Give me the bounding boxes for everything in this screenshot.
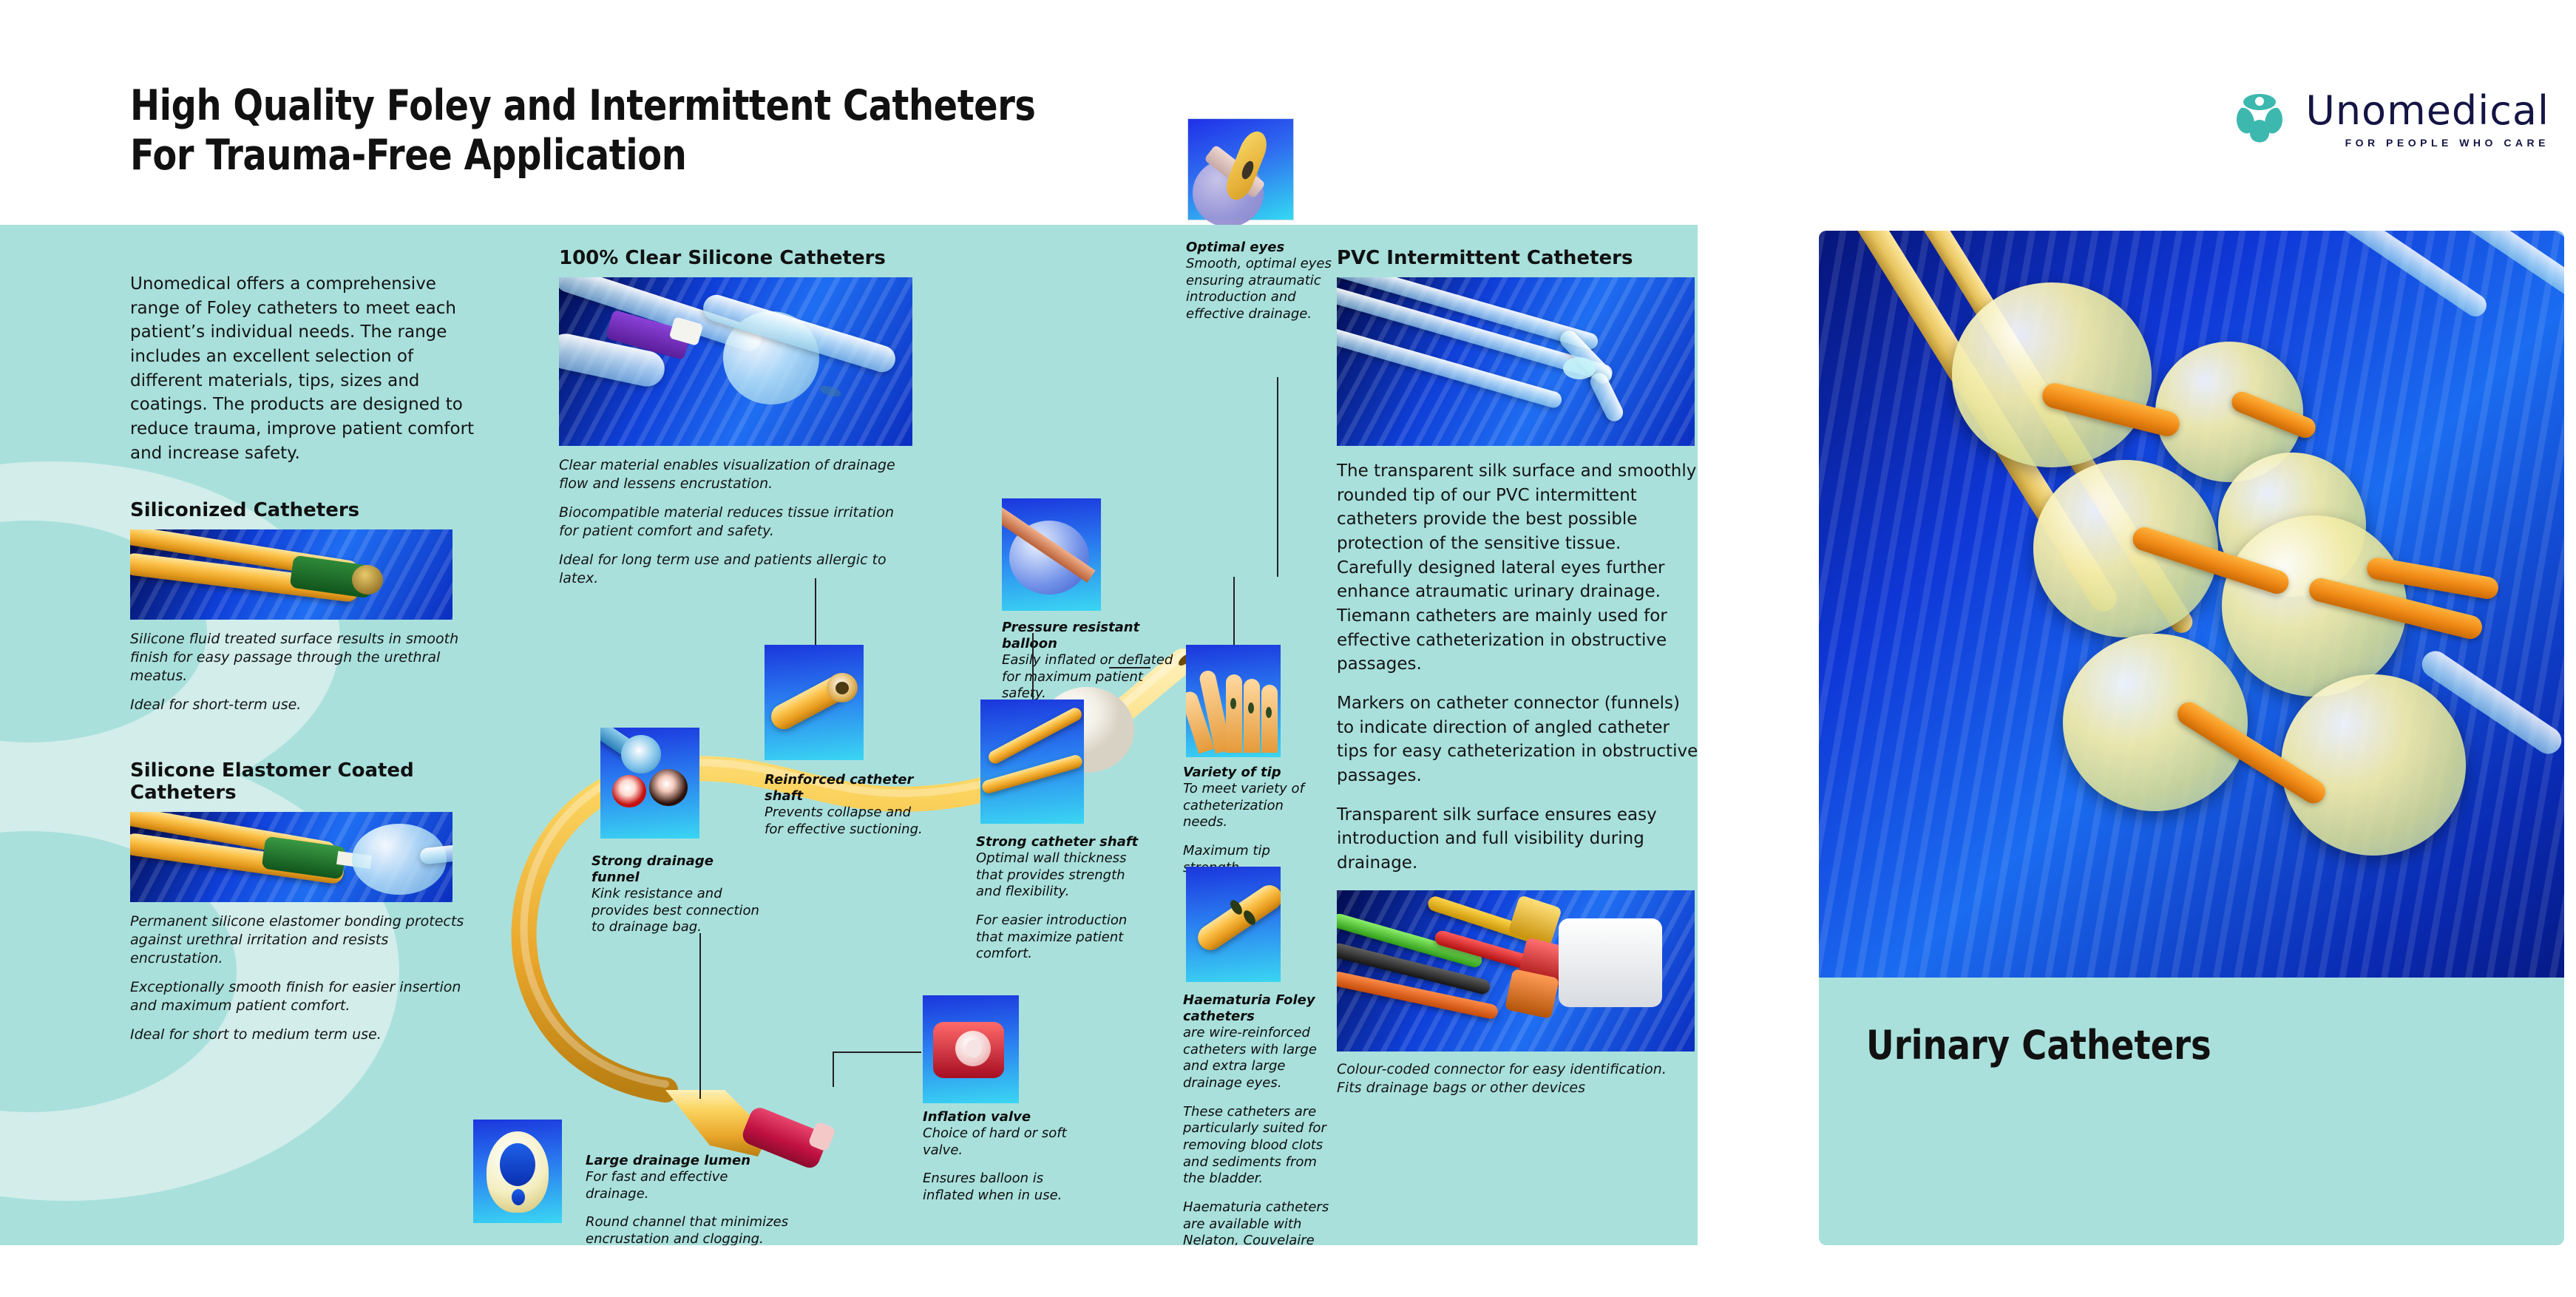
foley-balloon-catheters-hero-photo: [1819, 231, 2564, 978]
callout-title: Variety of tip: [1183, 765, 1331, 781]
callout-title: Large drainage lumen: [586, 1153, 793, 1169]
hero-panel: Urinary Catheters: [1819, 231, 2564, 1245]
connector-caption-line-1: Colour-coded connector for easy identifi…: [1337, 1060, 1698, 1079]
callout-text-3: Haematuria catheters are available with …: [1183, 1199, 1331, 1245]
caption-elastomer-1: Permanent silicone elastomer bonding pro…: [130, 912, 479, 968]
leader-line-strong-shaft: [1032, 633, 1034, 700]
callout-text: To meet variety of catheterization needs…: [1183, 781, 1331, 831]
foley-tip-balloon-thumbnail: [1187, 118, 1294, 220]
caption-elastomer-3: Ideal for short to medium term use.: [130, 1026, 479, 1044]
callout-optimal-eyes: Optimal eyes Smooth, optimal eyes ensuri…: [1186, 240, 1345, 323]
variety-of-tip-photo: [1186, 645, 1281, 757]
caption-clear-2: Biocompatible material reduces tissue ir…: [559, 504, 914, 541]
callout-strong-drainage-funnel: Strong drainage funnel Kink resistance a…: [592, 853, 762, 936]
inflation-valve-photo: [923, 995, 1019, 1103]
clear-silicone-catheter-photo: [559, 277, 912, 446]
pvc-paragraph-2: Markers on catheter connector (funnels) …: [1337, 691, 1698, 788]
reinforced-catheter-shaft-photo: [765, 645, 864, 760]
callout-variety-of-tip: Variety of tip To meet variety of cathet…: [1183, 765, 1331, 876]
unomedical-figure-icon: [2231, 90, 2288, 146]
caption-clear-3: Ideal for long term use and patients all…: [559, 551, 914, 588]
callout-title: Haematuria Foley catheters: [1183, 992, 1331, 1025]
pvc-paragraph-3: Transparent silk surface ensures easy in…: [1337, 803, 1698, 876]
leader-line-optimal-eyes: [1277, 377, 1278, 577]
colour-coded-connectors-photo: [1337, 890, 1695, 1052]
strong-drainage-funnel-photo: [600, 728, 699, 839]
callout-title: Strong drainage funnel: [592, 853, 762, 886]
pvc-intermittent-catheters-photo: [1337, 277, 1695, 446]
leader-line-reinforced-shaft: [815, 578, 816, 645]
callout-title: Pressure resistant balloon: [1002, 620, 1187, 652]
callout-text: For fast and effective drainage.: [586, 1169, 793, 1202]
callout-large-drainage-lumen: Large drainage lumen For fast and effect…: [586, 1153, 793, 1245]
silicone-elastomer-coated-catheters-photo: [130, 812, 453, 902]
caption-siliconized-2: Ideal for short-term use.: [130, 696, 479, 714]
photo-content: [1337, 277, 1695, 446]
poster-page: High Quality Foley and Intermittent Cath…: [0, 0, 2576, 1297]
callout-text: Kink resistance and provides best connec…: [592, 886, 762, 936]
photo-content: [559, 277, 912, 446]
pvc-column: PVC Intermittent Catheters The transpare…: [1337, 247, 1698, 1097]
callout-title: Reinforced catheter shaft: [765, 772, 923, 805]
leader-line-balloon-h: [1109, 667, 1150, 668]
page-header: High Quality Foley and Intermittent Cath…: [0, 0, 2576, 225]
photo-content: [130, 812, 453, 902]
logo-tagline: FOR PEOPLE WHO CARE: [2345, 137, 2549, 149]
large-drainage-lumen-photo: [473, 1120, 562, 1223]
callout-title: Strong catheter shaft: [976, 834, 1146, 850]
caption-clear-1: Clear material enables visualization of …: [559, 456, 914, 493]
photo-content: [1337, 890, 1695, 1052]
leader-line-inflation-valve-v: [833, 1052, 834, 1087]
callout-text: Prevents collapse and for effective suct…: [765, 805, 923, 838]
intro-paragraph: Unomedical offers a comprehensive range …: [130, 272, 479, 465]
caption-elastomer-2: Exceptionally smooth finish for easier i…: [130, 978, 479, 1015]
section-title-clear-silicone: 100% Clear Silicone Catheters: [559, 247, 914, 269]
callout-text: are wire-reinforced catheters with large…: [1183, 1025, 1331, 1092]
callout-pressure-resistant-balloon: Pressure resistant balloon Easily inflat…: [1002, 620, 1187, 702]
strong-catheter-shaft-photo: [980, 700, 1084, 824]
callout-strong-catheter-shaft: Strong catheter shaft Optimal wall thick…: [976, 834, 1146, 963]
pressure-resistant-balloon-photo: [1002, 498, 1101, 611]
callout-text-2: Round channel that minimizes encrustatio…: [586, 1214, 793, 1245]
hero-panel-title: Urinary Catheters: [1866, 1022, 2211, 1069]
callout-text: Smooth, optimal eyes ensuring atraumatic…: [1186, 256, 1345, 323]
middle-column: 100% Clear Silicone Catheters Clear mate…: [559, 247, 914, 588]
callout-text-2: For easier introduction that maximize pa…: [976, 912, 1146, 963]
callout-reinforced-catheter-shaft: Reinforced catheter shaft Prevents colla…: [765, 772, 923, 838]
pvc-body-text: The transparent silk surface and smoothl…: [1337, 459, 1698, 876]
siliconized-catheters-photo: [130, 529, 453, 620]
callout-text-2: These catheters are particularly suited …: [1183, 1104, 1331, 1188]
caption-siliconized-1: Silicone fluid treated surface results i…: [130, 630, 479, 685]
callout-inflation-valve: Inflation valve Choice of hard or soft v…: [923, 1109, 1071, 1205]
callout-haematuria-foley-catheters: Haematuria Foley catheters are wire-rein…: [1183, 992, 1331, 1245]
leader-line-drainage-funnel: [699, 933, 701, 1099]
callout-title: Inflation valve: [923, 1109, 1071, 1125]
logo-type: Unomedical FOR PEOPLE WHO CARE: [2305, 87, 2549, 149]
callout-text: Optimal wall thickness that provides str…: [976, 850, 1146, 901]
main-content-panel: Unomedical offers a comprehensive range …: [0, 225, 1698, 1245]
section-title-pvc: PVC Intermittent Catheters: [1337, 247, 1698, 269]
photo-content: [130, 529, 453, 620]
callout-text-2: Ensures balloon is inflated when in use.: [923, 1171, 1071, 1204]
section-title-silicone-elastomer: Silicone Elastomer Coated Catheters: [130, 759, 479, 804]
unomedical-logo: Unomedical FOR PEOPLE WHO CARE: [2231, 87, 2549, 149]
page-title: High Quality Foley and Intermittent Cath…: [130, 81, 1062, 180]
pvc-paragraph-1: The transparent silk surface and smoothl…: [1337, 459, 1698, 677]
connector-caption-line-2: Fits drainage bags or other devices: [1337, 1079, 1698, 1097]
callout-text: Choice of hard or soft valve.: [923, 1125, 1071, 1159]
page-title-line-2: For Trauma-Free Application: [130, 131, 1062, 180]
leader-line-variety-of-tip: [1233, 577, 1235, 645]
connector-caption: Colour-coded connector for easy identifi…: [1337, 1060, 1698, 1097]
callout-title: Optimal eyes: [1186, 240, 1345, 256]
haematuria-foley-catheter-photo: [1186, 867, 1281, 982]
section-title-siliconized: Siliconized Catheters: [130, 499, 479, 521]
page-title-line-1: High Quality Foley and Intermittent Cath…: [130, 81, 1062, 131]
left-column: Unomedical offers a comprehensive range …: [130, 272, 479, 1044]
logo-wordmark: Unomedical: [2305, 87, 2549, 134]
callout-text: Easily inflated or deflated for maximum …: [1002, 652, 1187, 702]
leader-line-inflation-valve-h: [833, 1052, 921, 1053]
